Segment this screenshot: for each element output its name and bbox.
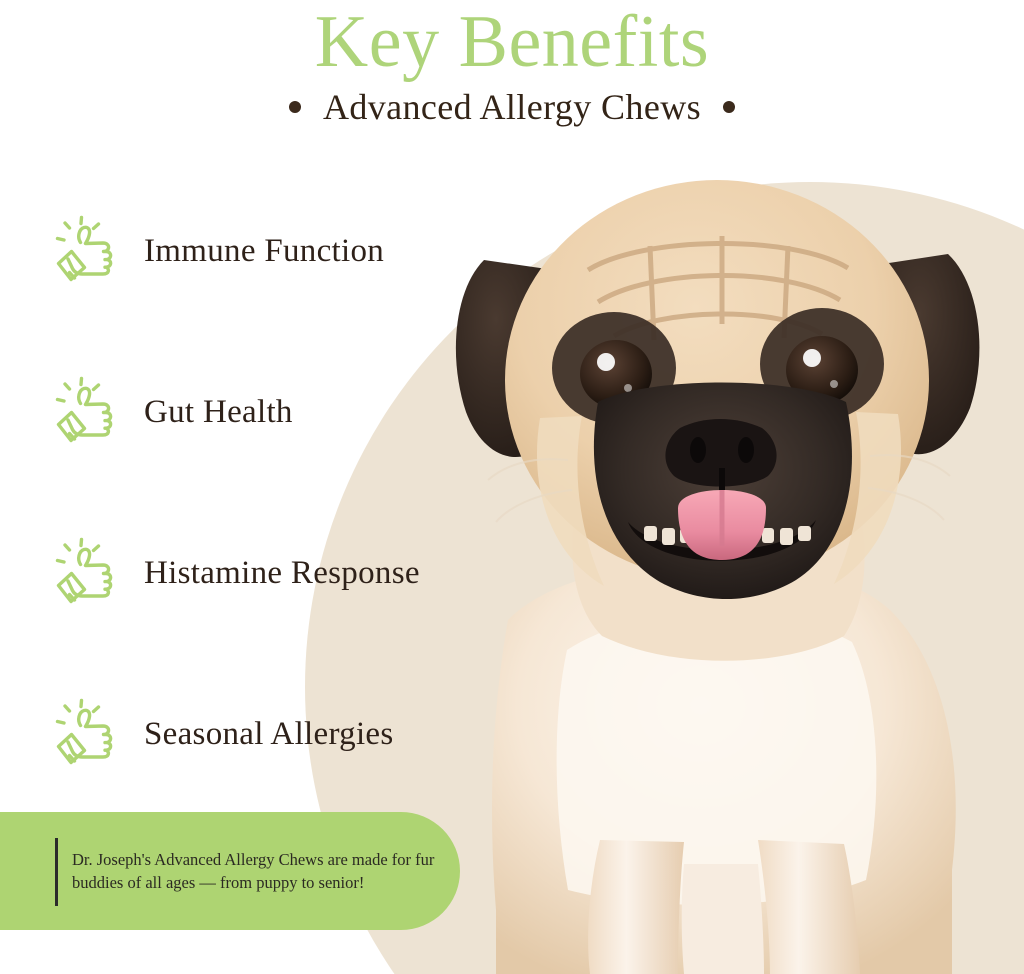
benefit-label: Immune Function — [144, 232, 384, 270]
benefit-item-seasonal-allergies: Seasonal Allergies — [50, 653, 610, 814]
poster-header: Key Benefits Advanced Allergy Chews — [0, 0, 1024, 128]
bullet-dot-right-icon — [723, 101, 735, 113]
dog-front-leg-left — [588, 840, 684, 974]
thumbs-up-icon — [50, 537, 122, 609]
page-title: Key Benefits — [0, 2, 1024, 82]
page-subtitle: Advanced Allergy Chews — [323, 86, 701, 128]
poster-canvas: Key Benefits Advanced Allergy Chews Imm — [0, 0, 1024, 974]
subtitle-row: Advanced Allergy Chews — [0, 86, 1024, 128]
thumbs-up-icon — [50, 376, 122, 448]
callout-vertical-rule — [55, 838, 58, 906]
callout-text: Dr. Joseph's Advanced Allergy Chews are … — [72, 848, 438, 894]
benefit-label: Histamine Response — [144, 554, 420, 592]
thumbs-up-icon — [50, 698, 122, 770]
benefit-item-gut-health: Gut Health — [50, 331, 610, 492]
bullet-dot-left-icon — [289, 101, 301, 113]
benefits-list: Immune Function Gut Health — [50, 170, 610, 814]
benefit-label: Gut Health — [144, 393, 293, 431]
benefit-item-immune-function: Immune Function — [50, 170, 610, 331]
benefit-label: Seasonal Allergies — [144, 715, 394, 753]
dog-front-leg-right — [758, 840, 860, 974]
callout-banner: Dr. Joseph's Advanced Allergy Chews are … — [0, 812, 460, 930]
benefit-item-histamine-response: Histamine Response — [50, 492, 610, 653]
thumbs-up-icon — [50, 215, 122, 287]
